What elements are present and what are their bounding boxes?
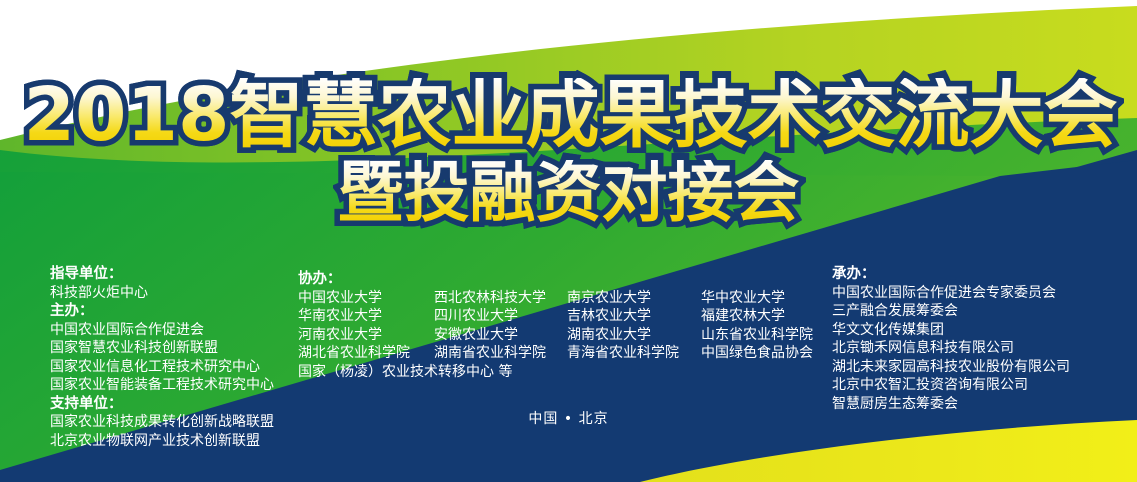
guidance-heading: 指导单位： (50, 265, 274, 284)
co-organizer-item: 青海省农业科学院 (567, 344, 701, 363)
host-item: 三产融合发展筹委会 (832, 302, 1070, 321)
host-item: 华文文化传媒集团 (832, 321, 1070, 340)
co-organizer-item: 湖南农业大学 (567, 326, 701, 345)
co-organizer-item: 福建农林大学 (701, 307, 817, 326)
support-item: 北京农业物联网产业技术创新联盟 (50, 432, 274, 451)
co-organizer-item: 山东省农业科学院 (701, 326, 817, 345)
title-block: 2018智慧农业成果技术交流大会 2018智慧农业成果技术交流大会 暨投融资对接… (0, 78, 1137, 248)
co-organizer-item: 安徽农业大学 (434, 326, 567, 345)
venue-text: 中国 • 北京 (0, 408, 1137, 428)
co-organizer-heading: 协办： (298, 270, 817, 289)
host-item: 中国农业国际合作促进会专家委员会 (832, 284, 1070, 303)
conference-banner: 2018智慧农业成果技术交流大会 2018智慧农业成果技术交流大会 暨投融资对接… (0, 0, 1137, 482)
co-organizer-last-line: 国家（杨凌）农业技术转移中心 等 (298, 363, 701, 382)
yellow-bottom-arc (640, 420, 1137, 482)
host-item: 北京中农智汇投资咨询有限公司 (832, 376, 1070, 395)
co-organizer-column: 协办： 中国农业大学 西北农林科技大学 南京农业大学 华中农业大学 华南农业大学… (298, 270, 817, 381)
organizer-item: 国家农业信息化工程技术研究中心 (50, 358, 274, 377)
co-organizer-item: 中国绿色食品协会 (701, 344, 817, 363)
host-column: 承办： 中国农业国际合作促进会专家委员会 三产融合发展筹委会 华文文化传媒集团 … (832, 265, 1070, 413)
title-line-2-fill: 暨投融资对接会 (338, 160, 800, 226)
host-item: 北京锄禾网信息科技有限公司 (832, 339, 1070, 358)
co-organizer-item: 四川农业大学 (434, 307, 567, 326)
host-item: 湖北未来家园高科技农业股份有限公司 (832, 358, 1070, 377)
co-organizer-item: 湖北省农业科学院 (298, 344, 434, 363)
co-organizer-item: 西北农林科技大学 (434, 289, 567, 308)
co-organizer-item: 中国农业大学 (298, 289, 434, 308)
co-organizer-item: 南京农业大学 (567, 289, 701, 308)
host-heading: 承办： (832, 265, 1070, 284)
organizer-item: 国家智慧农业科技创新联盟 (50, 339, 274, 358)
co-organizer-item: 华中农业大学 (701, 289, 817, 308)
co-organizer-item: 华南农业大学 (298, 307, 434, 326)
organizer-item: 中国农业国际合作促进会 (50, 321, 274, 340)
co-organizer-item: 湖南省农业科学院 (434, 344, 567, 363)
guidance-item: 科技部火炬中心 (50, 284, 274, 303)
organizer-heading: 主办： (50, 302, 274, 321)
organizer-item: 国家农业智能装备工程技术研究中心 (50, 376, 274, 395)
co-organizer-item: 河南农业大学 (298, 326, 434, 345)
co-organizer-grid: 中国农业大学 西北农林科技大学 南京农业大学 华中农业大学 华南农业大学 四川农… (298, 289, 817, 382)
title-line-2: 暨投融资对接会 暨投融资对接会 (0, 160, 1137, 226)
co-organizer-item: 吉林农业大学 (567, 307, 701, 326)
title-line-1-fill: 2018智慧农业成果技术交流大会 (24, 78, 1118, 152)
title-line-1: 2018智慧农业成果技术交流大会 2018智慧农业成果技术交流大会 (4, 78, 1137, 152)
